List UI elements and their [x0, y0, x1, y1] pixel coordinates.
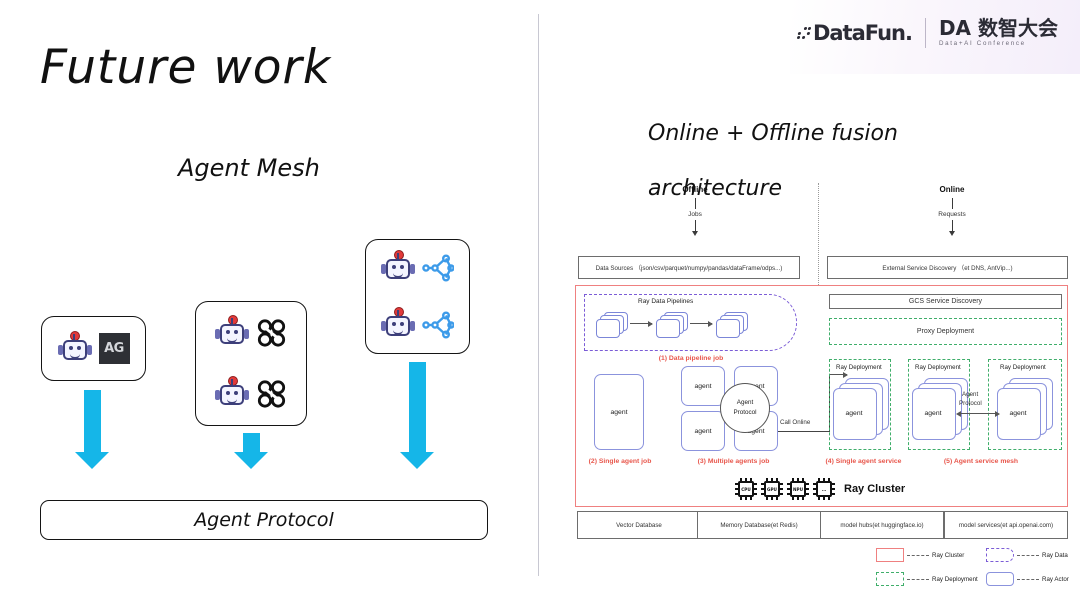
legend-label: Ray Deployment: [932, 576, 978, 583]
da-wordmark: DA 数智大会: [939, 18, 1058, 38]
multi-agent-box: agent: [681, 366, 725, 406]
diagram-title-line1: Online + Offline fusion: [648, 121, 898, 146]
service-box-label: Vector Database: [616, 522, 662, 529]
agent-label: agent: [833, 388, 875, 438]
multi-agent-box: agent: [681, 411, 725, 451]
node-graph-icon: [422, 254, 454, 282]
online-flow-label: Requests: [917, 211, 987, 218]
ray-actor-swatch: [986, 572, 1014, 586]
agent-replica-stack: agent: [997, 378, 1051, 440]
legend-leader: [907, 579, 929, 580]
data-sources-label: Data Sources （json/csv/parquet/numpy/pan…: [596, 263, 783, 272]
ray-data-pipelines-title: Ray Data Pipelines: [638, 298, 693, 305]
legend-leader: [1017, 579, 1039, 580]
datafun-wordmark: DataFun.: [813, 21, 912, 45]
pipeline-stage: [656, 312, 686, 336]
external-service-discovery-box: External Service Discovery （et DNS, AntV…: [827, 256, 1068, 279]
mesh-arrow-left: [956, 411, 961, 417]
proxy-deployment-box: Proxy Deployment: [829, 318, 1062, 345]
legend-item-ray-actor: Ray Actor: [986, 572, 1069, 586]
robot-icon: [381, 310, 415, 340]
legend-label: Ray Data: [1042, 552, 1068, 559]
online-flow-arrow: Requests: [917, 198, 987, 236]
pipeline-arrow: [690, 323, 712, 324]
mesh-arrow-right: [995, 411, 1000, 417]
service-box-model-services: model services(et api.openai.com): [944, 511, 1068, 539]
caption-data-pipeline-job: (1) Data pipeline job: [631, 355, 751, 362]
proxy-deployment-label: Proxy Deployment: [917, 328, 974, 335]
cpu-chip-icon: CPU: [735, 478, 757, 500]
agent-label: agent: [997, 388, 1039, 438]
ray-cluster-region: Ray Data Pipelines (1) Data pipeline job…: [575, 285, 1068, 507]
panel-divider: [538, 14, 539, 576]
down-arrow-icon: [400, 362, 434, 469]
legend-label: Ray Actor: [1042, 576, 1069, 583]
legend-leader: [907, 555, 929, 556]
mesh-link-line: [958, 413, 998, 414]
ray-cluster-label: Ray Cluster: [844, 483, 905, 495]
page-title: Future work: [40, 40, 331, 95]
ray-deployment-swatch: [876, 572, 904, 586]
legend-label: Ray Cluster: [932, 552, 964, 559]
single-agent-job-box: agent: [594, 374, 644, 450]
ray-cluster-swatch: [876, 548, 904, 562]
ray-data-swatch: [986, 548, 1014, 562]
data-sources-box: Data Sources （json/csv/parquet/numpy/pan…: [578, 256, 800, 279]
da-subtitle: Data+AI Conference: [939, 41, 1058, 47]
da-conference-logo: DA 数智大会 Data+AI Conference: [939, 18, 1058, 47]
robot-icon: [381, 253, 415, 283]
pipeline-stage: [716, 312, 746, 336]
section-title-agent-mesh: Agent Mesh: [178, 154, 320, 182]
service-box-label: Memory Database(et Redis): [720, 522, 797, 529]
service-box-label: model hubs(et huggingface.io): [840, 522, 923, 529]
agent-group-nodes: [365, 239, 470, 354]
down-arrow-icon: [75, 390, 109, 469]
node-graph-icon: [422, 311, 454, 339]
service-box-memory-database: Memory Database(et Redis): [697, 511, 821, 539]
agent-group-langchain: [195, 301, 307, 426]
service-box-label: model services(et api.openai.com): [959, 522, 1053, 529]
column-header-offline: Offline: [660, 185, 730, 194]
gpu-chip-icon: GPU: [761, 478, 783, 500]
external-service-discovery-label: External Service Discovery （et DNS, AntV…: [882, 263, 1012, 272]
robot-icon: [215, 318, 249, 348]
npu-chip-icon: NPU: [787, 478, 809, 500]
more-chip-label: ...: [816, 481, 832, 497]
ray-deployment-title: Ray Deployment: [836, 364, 882, 371]
datafun-logo: DataFun.: [798, 21, 912, 45]
brand-header: DataFun. DA 数智大会 Data+AI Conference: [790, 0, 1080, 74]
pipeline-stage: [596, 312, 626, 336]
agent-replica-stack: agent: [912, 378, 966, 440]
down-arrow-icon: [234, 433, 268, 469]
langchain-icon: [256, 318, 287, 348]
legend-item-ray-cluster: Ray Cluster: [876, 548, 964, 562]
legend-item-ray-data: Ray Data: [986, 548, 1068, 562]
pipeline-arrow: [630, 323, 652, 324]
caption-single-agent-job: (2) Single agent job: [579, 458, 661, 465]
call-online-line-h: [778, 431, 830, 432]
legend-item-ray-deployment: Ray Deployment: [876, 572, 978, 586]
agent-label: agent: [912, 388, 954, 438]
mesh-protocol-line1: Agent: [962, 391, 978, 398]
service-box-vector-database: Vector Database: [577, 511, 701, 539]
mesh-protocol-line2: Protocol: [959, 400, 982, 407]
npu-chip-label: NPU: [790, 481, 806, 497]
legend: Ray Cluster Ray Data Ray Deployment Ray …: [876, 548, 1076, 594]
caption-multiple-agents-job: (3) Multiple agents job: [676, 458, 791, 465]
gpu-chip-label: GPU: [764, 481, 780, 497]
langchain-icon: [256, 379, 287, 409]
gcs-service-discovery-box: GCS Service Discovery: [829, 294, 1062, 309]
cpu-chip-label: CPU: [738, 481, 754, 497]
datafun-dots-icon: [796, 27, 811, 39]
gcs-service-discovery-label: GCS Service Discovery: [909, 298, 982, 305]
ray-deployment-title: Ray Deployment: [915, 364, 961, 371]
agent-protocol-bar: Agent Protocol: [40, 500, 488, 540]
offline-flow-label: Jobs: [660, 211, 730, 218]
legend-leader: [1017, 555, 1039, 556]
service-box-model-hubs: model hubs(et huggingface.io): [820, 511, 944, 539]
agent-protocol-circle-line2: Protocol: [733, 408, 756, 418]
agent-protocol-label: Agent Protocol: [194, 509, 334, 531]
autogen-logo-icon: AG: [99, 333, 130, 364]
offline-flow-arrow: Jobs: [660, 198, 730, 236]
caption-agent-service-mesh: (5) Agent service mesh: [931, 458, 1031, 465]
robot-icon: [215, 379, 249, 409]
caption-single-agent-service: (4) Single agent service: [821, 458, 906, 465]
more-chip-icon: ...: [813, 478, 835, 500]
agent-replica-stack: agent: [833, 378, 887, 440]
column-header-online: Online: [917, 185, 987, 194]
ray-cluster-hardware-strip: CPU GPU NPU ... Ray Cluster: [735, 478, 905, 500]
agent-protocol-circle-line1: Agent: [737, 398, 753, 408]
logo-divider: [925, 18, 926, 48]
agent-protocol-circle: Agent Protocol: [720, 383, 770, 433]
call-online-label: Call Online: [780, 419, 810, 426]
agent-group-single: AG: [41, 316, 146, 381]
robot-icon: [58, 334, 92, 364]
ray-deployment-title: Ray Deployment: [1000, 364, 1046, 371]
